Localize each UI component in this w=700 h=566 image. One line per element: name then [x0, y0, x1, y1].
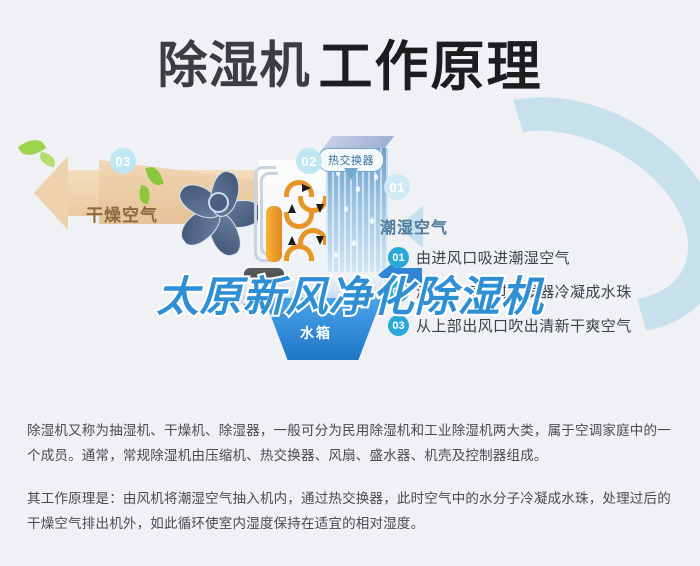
step-badge: 03: [388, 315, 409, 336]
diagram-badge-02: 02: [296, 148, 322, 174]
flow-arrow-icon: [288, 204, 296, 213]
list-item: 03 从上部出风口吹出清新干爽空气: [388, 315, 688, 336]
page-root: 除湿机工作原理 干燥空气: [0, 0, 700, 566]
diagram-badge-03: 03: [110, 148, 136, 174]
description-block: 除湿机又称为抽湿机、干燥机、除湿器，一般可分为民用除湿机和工业除湿机两大类，属于…: [27, 418, 675, 536]
step-text: 从上部出风口吹出清新干爽空气: [416, 315, 632, 336]
description-paragraph-1: 除湿机又称为抽湿机、干燥机、除湿器，一般可分为民用除湿机和工业除湿机两大类，属于…: [27, 418, 675, 468]
diagram-badge-01: 01: [384, 174, 410, 200]
title-part-b: 工作原理: [319, 37, 543, 97]
water-tank-label: 水箱: [300, 323, 332, 343]
humid-air-label: 潮湿空气: [380, 214, 448, 238]
compressor-cylinder: [266, 206, 282, 262]
steps-list: 01 由进风口吸进潮湿空气 02 潮湿空气经过蒸发器冷凝成水珠 03 从上部出风…: [388, 247, 688, 349]
step-text: 潮湿空气经过蒸发器冷凝成水珠: [416, 281, 632, 302]
step-text: 由进风口吸进潮湿空气: [416, 247, 570, 268]
page-title: 除湿机工作原理: [0, 22, 700, 101]
dry-air-label: 干燥空气: [86, 201, 158, 226]
step-badge: 01: [388, 247, 409, 268]
title-part-a: 除湿机: [158, 38, 311, 94]
condenser-coil: [258, 160, 334, 272]
fan-hub: [208, 192, 229, 213]
flow-arrow-icon: [316, 236, 324, 245]
list-item: 01 由进风口吸进潮湿空气: [388, 247, 688, 268]
flow-arrow-icon: [288, 236, 296, 245]
list-item: 02 潮湿空气经过蒸发器冷凝成水珠: [388, 281, 688, 302]
step-badge: 02: [388, 281, 409, 302]
description-paragraph-2: 其工作原理是：由风机将潮湿空气抽入机内，通过热交换器，此时空气中的水分子冷凝成水…: [27, 486, 675, 536]
heat-exchanger-callout-pointer: [344, 168, 358, 180]
dry-air-arrowhead: [34, 156, 68, 230]
flow-arrow-icon: [316, 204, 324, 213]
flow-arrow-icon: [302, 184, 311, 192]
